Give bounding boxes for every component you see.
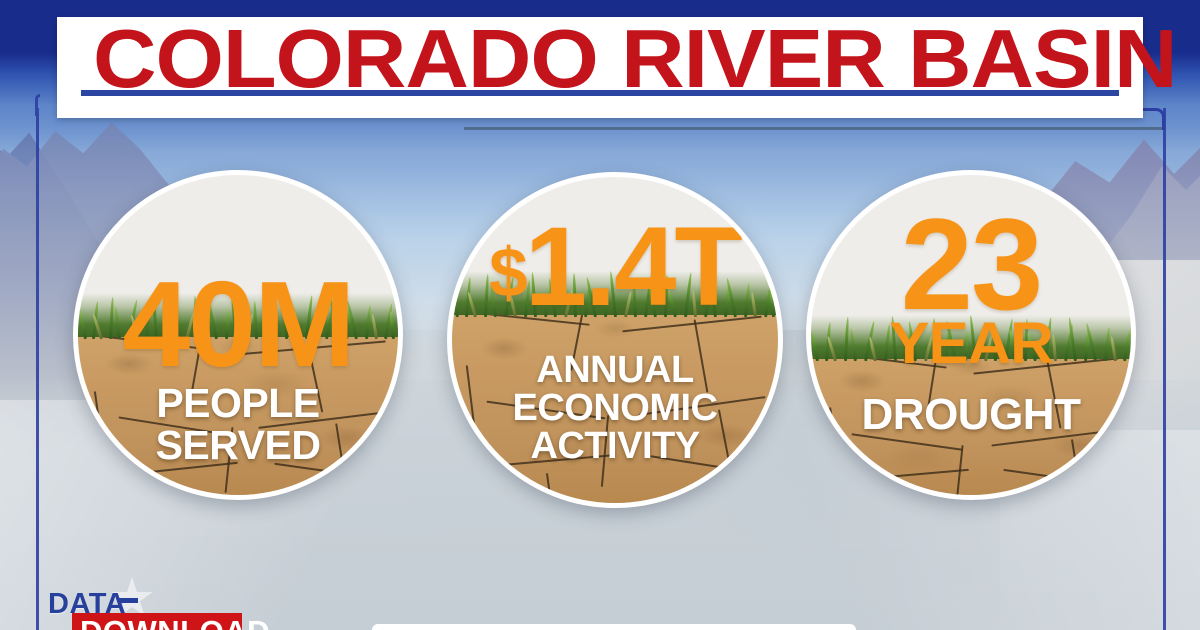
- infographic-canvas: COLORADO RIVER BASIN: [0, 0, 1200, 630]
- logo-text-download: DOWNLOAD: [80, 614, 270, 630]
- stat-sub-value: YEAR: [806, 315, 1136, 373]
- stat-value: 40M: [78, 263, 398, 385]
- stat-circle-economic-activity[interactable]: $1.4T ANNUAL ECONOMIC ACTIVITY: [447, 172, 783, 508]
- stat-value: 23: [811, 199, 1131, 329]
- logo-underscore: [118, 598, 138, 603]
- stat-value-group: $1.4T: [452, 211, 778, 323]
- stat-value: 1.4T: [525, 204, 741, 329]
- title-banner: COLORADO RIVER BASIN: [57, 17, 1143, 118]
- lower-third-slab: [372, 624, 856, 630]
- guide-line-right: [1163, 108, 1166, 630]
- stat-circle-drought[interactable]: 23 YEAR DROUGHT: [806, 170, 1136, 500]
- stat-caption-line-2: ECONOMIC: [452, 390, 778, 427]
- stat-caption-line-2: SERVED: [78, 425, 398, 465]
- guide-line-horizontal: [464, 127, 1164, 130]
- guide-line-left: [36, 108, 39, 630]
- stat-caption-line-1: ANNUAL: [452, 352, 778, 389]
- stat-circle-people-served[interactable]: 40M PEOPLE SERVED: [73, 170, 403, 500]
- stat-caption-line-1: PEOPLE: [78, 383, 398, 423]
- title-underline: [81, 90, 1119, 96]
- stat-caption-line-3: ACTIVITY: [452, 428, 778, 465]
- stat-caption-line-1: DROUGHT: [811, 393, 1131, 436]
- currency-symbol: $: [489, 234, 525, 312]
